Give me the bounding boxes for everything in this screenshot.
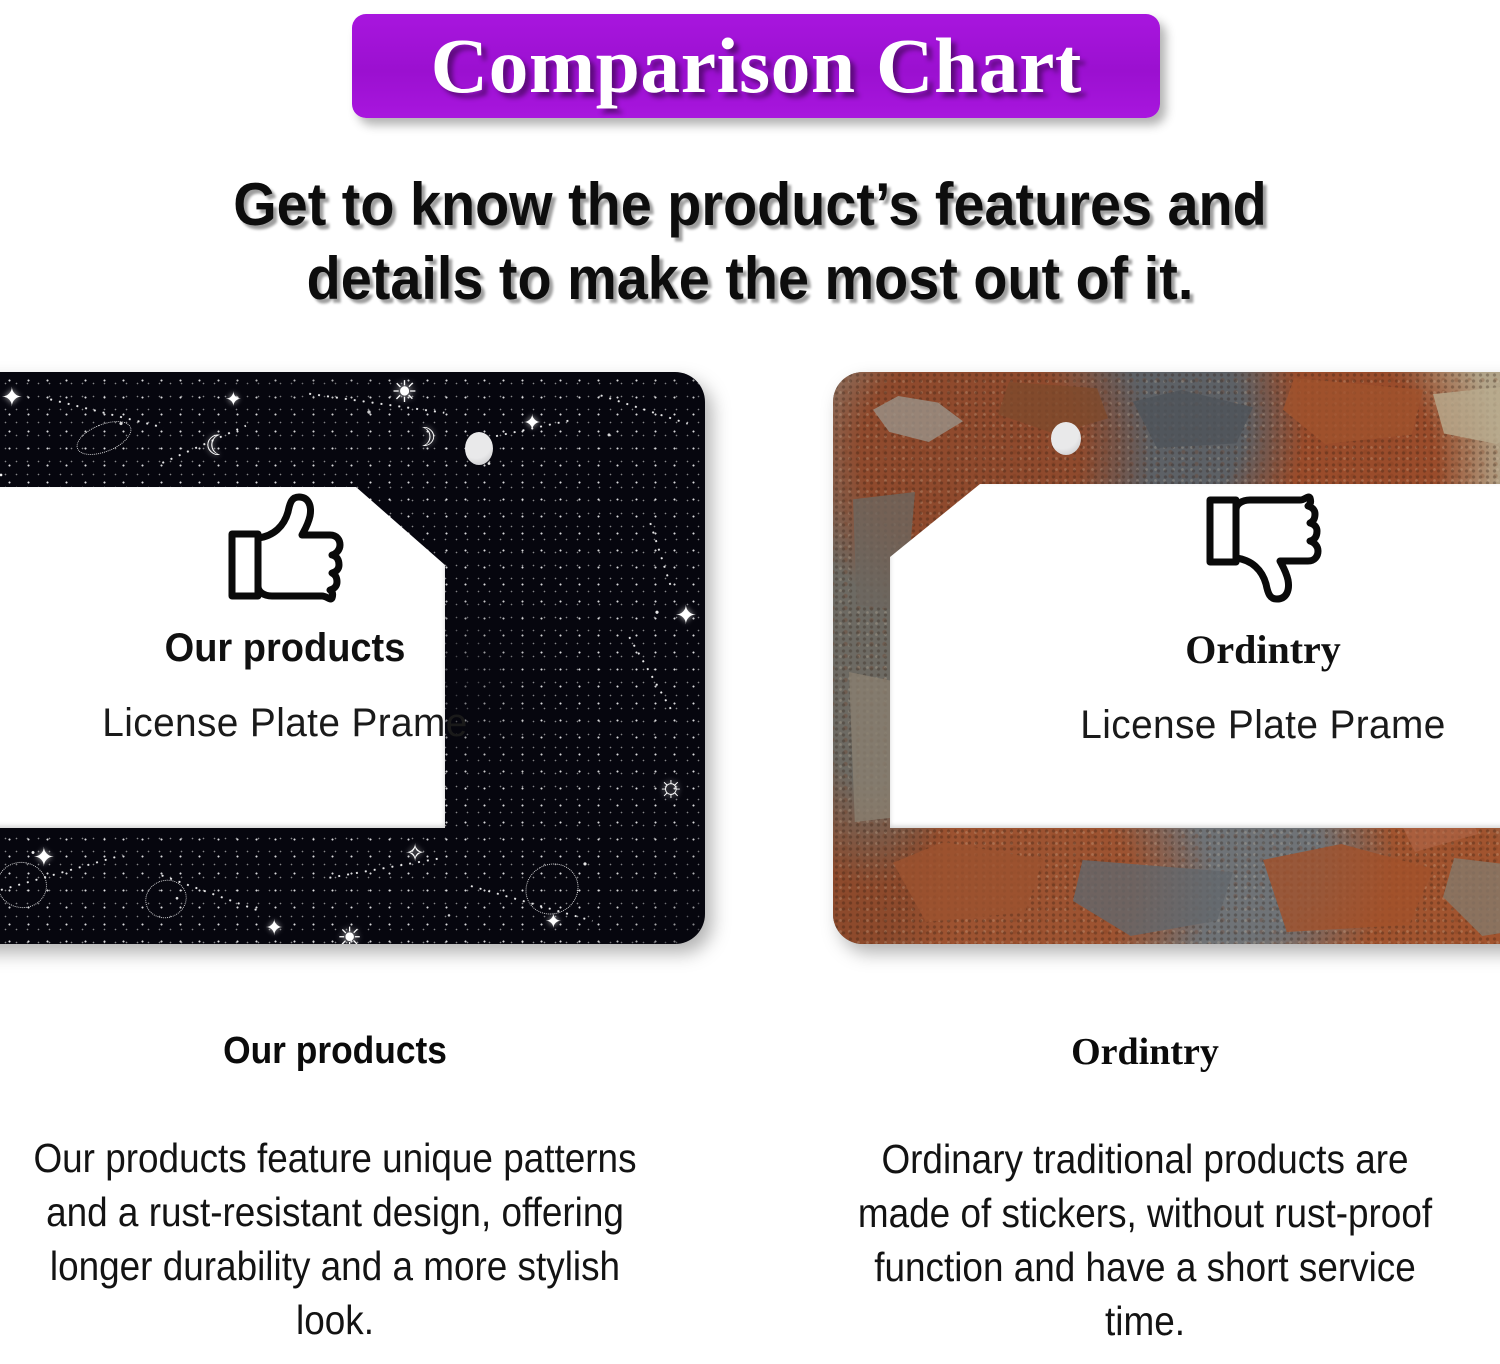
page-title: Comparison Chart	[430, 21, 1081, 111]
star-sparkle: ✦	[523, 412, 541, 434]
summary-title-ours: Our products	[0, 1030, 684, 1073]
star-sparkle: ✦	[545, 912, 562, 932]
sun-burst-icon: ☀	[337, 924, 362, 944]
plate-content-ordinary: Ordintry License Plate Prame	[953, 492, 1500, 748]
mounting-hole	[465, 432, 493, 465]
subtitle-line-1: Get to know the product’s features and	[53, 168, 1448, 242]
thumbs-up-icon	[226, 492, 344, 604]
star-sparkle: ✦	[265, 917, 283, 939]
thumbs-down-icon	[1204, 492, 1322, 604]
mounting-hole	[1051, 422, 1081, 455]
product-frame-ordinary: Ordintry License Plate Prame	[833, 372, 1500, 944]
plate-heading-ours: Our products	[33, 626, 537, 671]
product-frame-ours: ✦ ✦ ☀ ✦ ✦ ☼ ✦ ✦ ✧ ✦ ☾ ☽ ☀ Our products L…	[0, 372, 705, 944]
star-sparkle: ✧	[405, 842, 425, 866]
plate-content-ours: Our products License Plate Prame	[20, 492, 550, 746]
plate-subheading-ours: License Plate Prame	[28, 701, 542, 746]
summary-column-ordinary: Ordintry Ordinary traditional products a…	[770, 1030, 1500, 1348]
sun-burst-icon: ☀	[391, 378, 418, 408]
star-sparkle: ✦	[675, 602, 697, 628]
plate-subheading-ordinary: License Plate Prame	[962, 703, 1500, 748]
summary-title-ordinary: Ordintry	[770, 1030, 1500, 1074]
summary-column-ours: Our products Our products feature unique…	[0, 1030, 710, 1347]
crescent-moon-icon: ☽	[413, 424, 436, 450]
summary-body-ordinary: Ordinary traditional products are made o…	[808, 1132, 1483, 1348]
star-sparkle: ✦	[225, 390, 242, 410]
subtitle-line-2: details to make the most out of it.	[53, 242, 1448, 316]
comparison-chart-title-banner: Comparison Chart	[352, 14, 1160, 118]
crescent-moon-icon: ☾	[205, 432, 230, 460]
page-subtitle: Get to know the product’s features and d…	[53, 168, 1448, 316]
star-sparkle: ✦	[1, 384, 23, 410]
sun-burst-icon: ☼	[657, 772, 685, 802]
summary-body-ours: Our products feature unique patterns and…	[0, 1131, 673, 1347]
plate-heading-ordinary: Ordintry	[953, 626, 1500, 673]
